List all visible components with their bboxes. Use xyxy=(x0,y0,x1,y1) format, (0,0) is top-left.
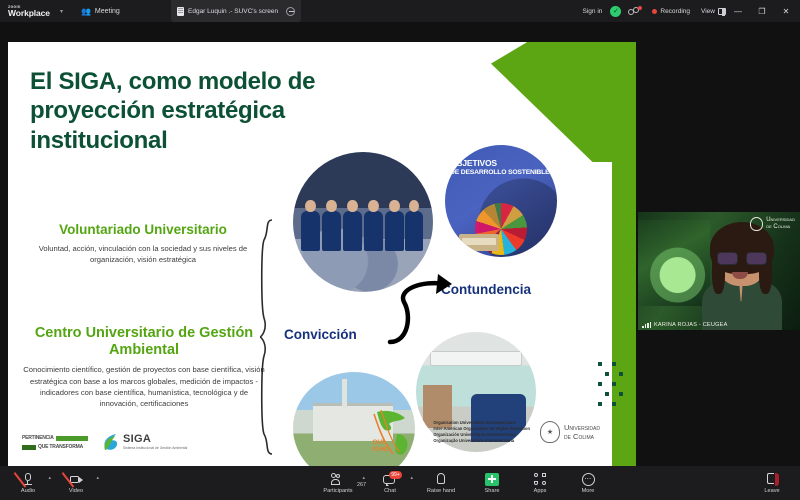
leaf-swirl-icon xyxy=(102,433,119,452)
block-body: Conocimiento científico, gestión de proy… xyxy=(20,364,268,410)
toolbar-left-group: Audio ▴ Video ▴ xyxy=(4,466,100,500)
brand-workplace-label: Workplace xyxy=(8,9,50,18)
audio-button[interactable]: Audio ▴ xyxy=(4,466,52,500)
oui-names-list: Organisation Universitaire Interaméricai… xyxy=(433,420,530,445)
participants-label: Participants xyxy=(323,488,352,494)
camera-muted-icon xyxy=(69,472,83,486)
chat-unread-badge: 99+ xyxy=(389,471,402,479)
oui-name-pt: Organização Universitária Interamericana xyxy=(433,438,530,444)
network-status-icon[interactable] xyxy=(628,6,642,17)
view-button[interactable]: View xyxy=(701,8,726,15)
audio-label: Audio xyxy=(21,488,35,494)
toolbar-center-group: 267 Participants ▴ 99+ Chat ▴ Raise hand… xyxy=(310,466,612,500)
more-label: More xyxy=(582,488,595,494)
meeting-stage: El SIGA, como modelo de proyección estra… xyxy=(0,22,800,466)
video-button[interactable]: Video ▴ xyxy=(52,466,100,500)
people-icon: 👥 xyxy=(81,7,91,16)
screen-share-tab[interactable]: Edgar Luquin .- SUVC's screen xyxy=(171,0,301,22)
more-ellipsis-icon: ⋯ xyxy=(582,473,595,486)
sdg-overlay-text: OBJETIVOS DE DESARROLLO SOSTENIBLE xyxy=(450,159,552,176)
slide-logos-right: OUI IOHE Organisation Universitaire Inte… xyxy=(371,406,600,458)
sign-in-button[interactable]: Sign in xyxy=(575,8,611,15)
oui-name-fr: Organisation Universitaire Interaméricai… xyxy=(433,420,530,426)
raise-hand-label: Raise hand xyxy=(427,488,455,494)
slide-title: El SIGA, como modelo de proyección estra… xyxy=(30,67,360,155)
meeting-tab-label: Meeting xyxy=(95,8,120,15)
chevron-down-icon[interactable]: ▾ xyxy=(60,8,63,15)
minimize-button[interactable]: — xyxy=(726,0,750,22)
curved-arrow-icon xyxy=(386,270,476,350)
siga-name: SIGA xyxy=(123,434,187,445)
chevron-up-icon[interactable]: ▴ xyxy=(48,475,51,481)
toolbar-right-group: Leave xyxy=(748,466,796,500)
participants-button[interactable]: 267 Participants ▴ xyxy=(310,466,366,500)
block-body: Voluntad, acción, vinculación con la soc… xyxy=(28,243,258,266)
curly-brace-icon xyxy=(260,218,274,456)
video-label: Video xyxy=(69,488,83,494)
siga-subtitle: Sistema Institucional de Gestión Ambient… xyxy=(123,446,187,450)
view-label: View xyxy=(701,8,715,15)
microphone-muted-icon xyxy=(21,472,35,486)
text-block-voluntariado: Voluntariado Universitario Voluntad, acc… xyxy=(28,222,258,266)
chat-label: Chat xyxy=(384,488,396,494)
leave-label: Leave xyxy=(764,488,779,494)
label-conviccion: Convicción xyxy=(284,327,357,342)
zoom-workplace-logo: zoom Workplace xyxy=(8,5,50,18)
document-icon xyxy=(177,7,184,16)
participant-name-bar: KARINA ROJAS - CEUGEA xyxy=(638,319,732,330)
participant-video-tile[interactable]: Universidad de Colima KARINA ROJAS - CEU… xyxy=(638,212,800,330)
decorative-green-bar xyxy=(612,160,636,466)
text-block-ceugea: Centro Universitario de Gestión Ambienta… xyxy=(20,325,268,410)
chevron-up-icon[interactable]: ▴ xyxy=(96,475,99,481)
podium-shape xyxy=(459,234,499,251)
window-controls: Sign in ✓ Recording View — ❐ ✕ xyxy=(575,0,800,22)
leave-meeting-icon xyxy=(765,472,779,486)
shared-slide[interactable]: El SIGA, como modelo de proyección estra… xyxy=(8,42,636,466)
chat-icon: 99+ xyxy=(383,472,397,486)
participants-count: 267 xyxy=(357,482,366,488)
signal-bars-icon xyxy=(642,322,651,328)
slide-logos-left: PERTINENCIA QUE TRANSFORMA SIGA Sistema … xyxy=(22,433,187,452)
shield-check-icon[interactable]: ✓ xyxy=(610,6,621,17)
screen-share-tab-label: Edgar Luquin .- SUVC's screen xyxy=(188,8,278,15)
nature-background-photo xyxy=(638,220,710,306)
university-watermark: Universidad de Colima xyxy=(750,217,795,231)
share-screen-icon xyxy=(485,473,499,486)
apps-icon xyxy=(533,472,547,486)
block-heading: Centro Universitario de Gestión Ambienta… xyxy=(20,325,268,359)
recording-indicator[interactable]: Recording xyxy=(652,8,690,15)
universidad-colima-logo: ★ Universidad de Colima xyxy=(540,421,600,443)
close-button[interactable]: ✕ xyxy=(774,0,798,22)
apps-label: Apps xyxy=(534,488,547,494)
chevron-up-icon[interactable]: ▴ xyxy=(362,475,365,481)
leave-button[interactable]: Leave xyxy=(748,466,796,500)
recording-label: Recording xyxy=(660,8,690,15)
pertinencia-line1: PERTINENCIA xyxy=(22,435,54,441)
chevron-up-icon[interactable]: ▴ xyxy=(410,475,413,481)
share-label: Share xyxy=(485,488,500,494)
university-crest-icon: ★ xyxy=(540,421,560,443)
record-dot-icon xyxy=(652,9,657,14)
meeting-toolbar: Audio ▴ Video ▴ 267 Participants ▴ xyxy=(0,466,800,500)
participant-figure xyxy=(704,228,780,330)
participant-name-label: KARINA ROJAS - CEUGEA xyxy=(654,322,728,328)
oui-iohe-logo: OUI IOHE xyxy=(371,406,423,458)
layout-icon xyxy=(718,8,726,15)
minus-circle-icon[interactable] xyxy=(286,7,295,16)
raise-hand-button[interactable]: Raise hand xyxy=(414,466,468,500)
glasses-icon xyxy=(717,252,767,265)
maximize-button[interactable]: ❐ xyxy=(750,0,774,22)
block-heading: Voluntariado Universitario xyxy=(28,222,258,238)
university-line2: de Colima xyxy=(564,432,600,441)
university-line1: Universidad xyxy=(564,423,600,432)
pertinencia-logo: PERTINENCIA QUE TRANSFORMA xyxy=(22,434,88,451)
oui-iohe-acronym: OUI IOHE xyxy=(372,440,388,454)
apps-button[interactable]: Apps xyxy=(516,466,564,500)
decorative-green-shape xyxy=(491,42,636,162)
chat-button[interactable]: 99+ Chat ▴ xyxy=(366,466,414,500)
participants-icon: 267 xyxy=(331,472,345,486)
meeting-tab[interactable]: 👥 Meeting xyxy=(81,7,120,16)
share-screen-button[interactable]: Share xyxy=(468,466,516,500)
pertinencia-line2: QUE TRANSFORMA xyxy=(38,444,83,450)
photo-sdg-event: OBJETIVOS DE DESARROLLO SOSTENIBLE xyxy=(445,145,557,257)
university-crest-icon xyxy=(750,217,763,231)
raise-hand-icon xyxy=(434,472,448,486)
siga-logo: SIGA Sistema Institucional de Gestión Am… xyxy=(102,433,187,452)
more-button[interactable]: ⋯ More xyxy=(564,466,612,500)
decorative-dot-grid xyxy=(596,360,630,406)
